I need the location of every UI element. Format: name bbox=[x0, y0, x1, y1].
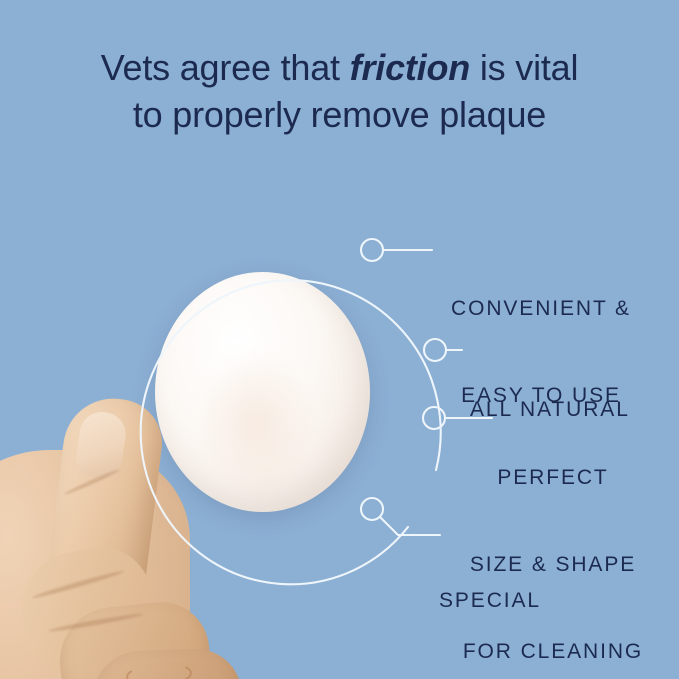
callout-line: TEXTURE HELPS bbox=[340, 673, 640, 679]
callout-line: SPECIAL bbox=[340, 586, 640, 615]
ring-marker-special-texture bbox=[361, 498, 383, 520]
callout-line: CONVENIENT & bbox=[443, 294, 639, 323]
callout-special-texture: SPECIAL TEXTURE HELPS REMOVE PLAQUE bbox=[340, 528, 640, 679]
ring-marker-convenient bbox=[361, 239, 383, 261]
callout-line: PERFECT bbox=[455, 463, 651, 492]
ring-marker-perfect-size bbox=[423, 407, 445, 429]
infographic-canvas: Vets agree that friction is vital to pro… bbox=[0, 0, 679, 679]
